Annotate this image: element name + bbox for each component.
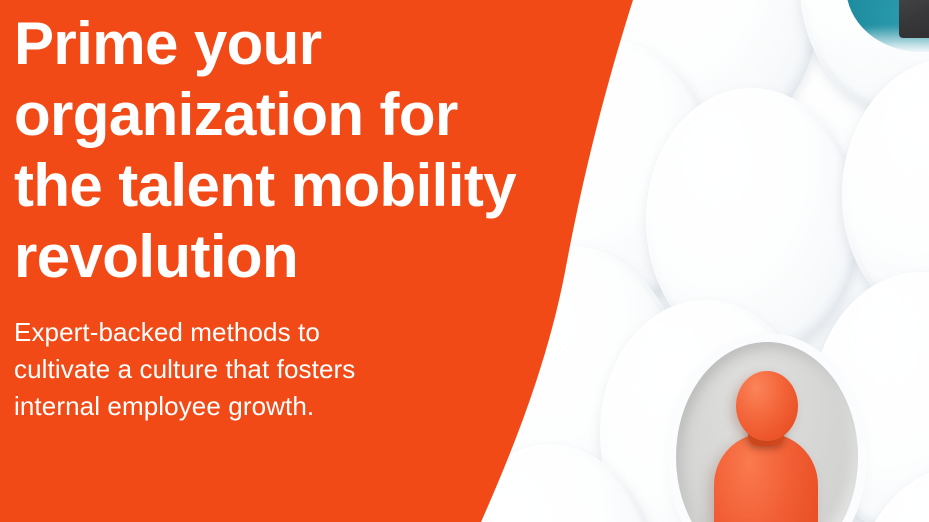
dark-corner-block	[899, 0, 929, 38]
copy-block: Prime your organization for the talent m…	[14, 0, 534, 425]
orange-person-head	[736, 371, 798, 441]
page-title: Prime your organization for the talent m…	[14, 0, 534, 292]
page-subtitle: Expert-backed methods to cultivate a cul…	[14, 292, 534, 425]
marketing-banner: Prime your organization for the talent m…	[0, 0, 929, 522]
